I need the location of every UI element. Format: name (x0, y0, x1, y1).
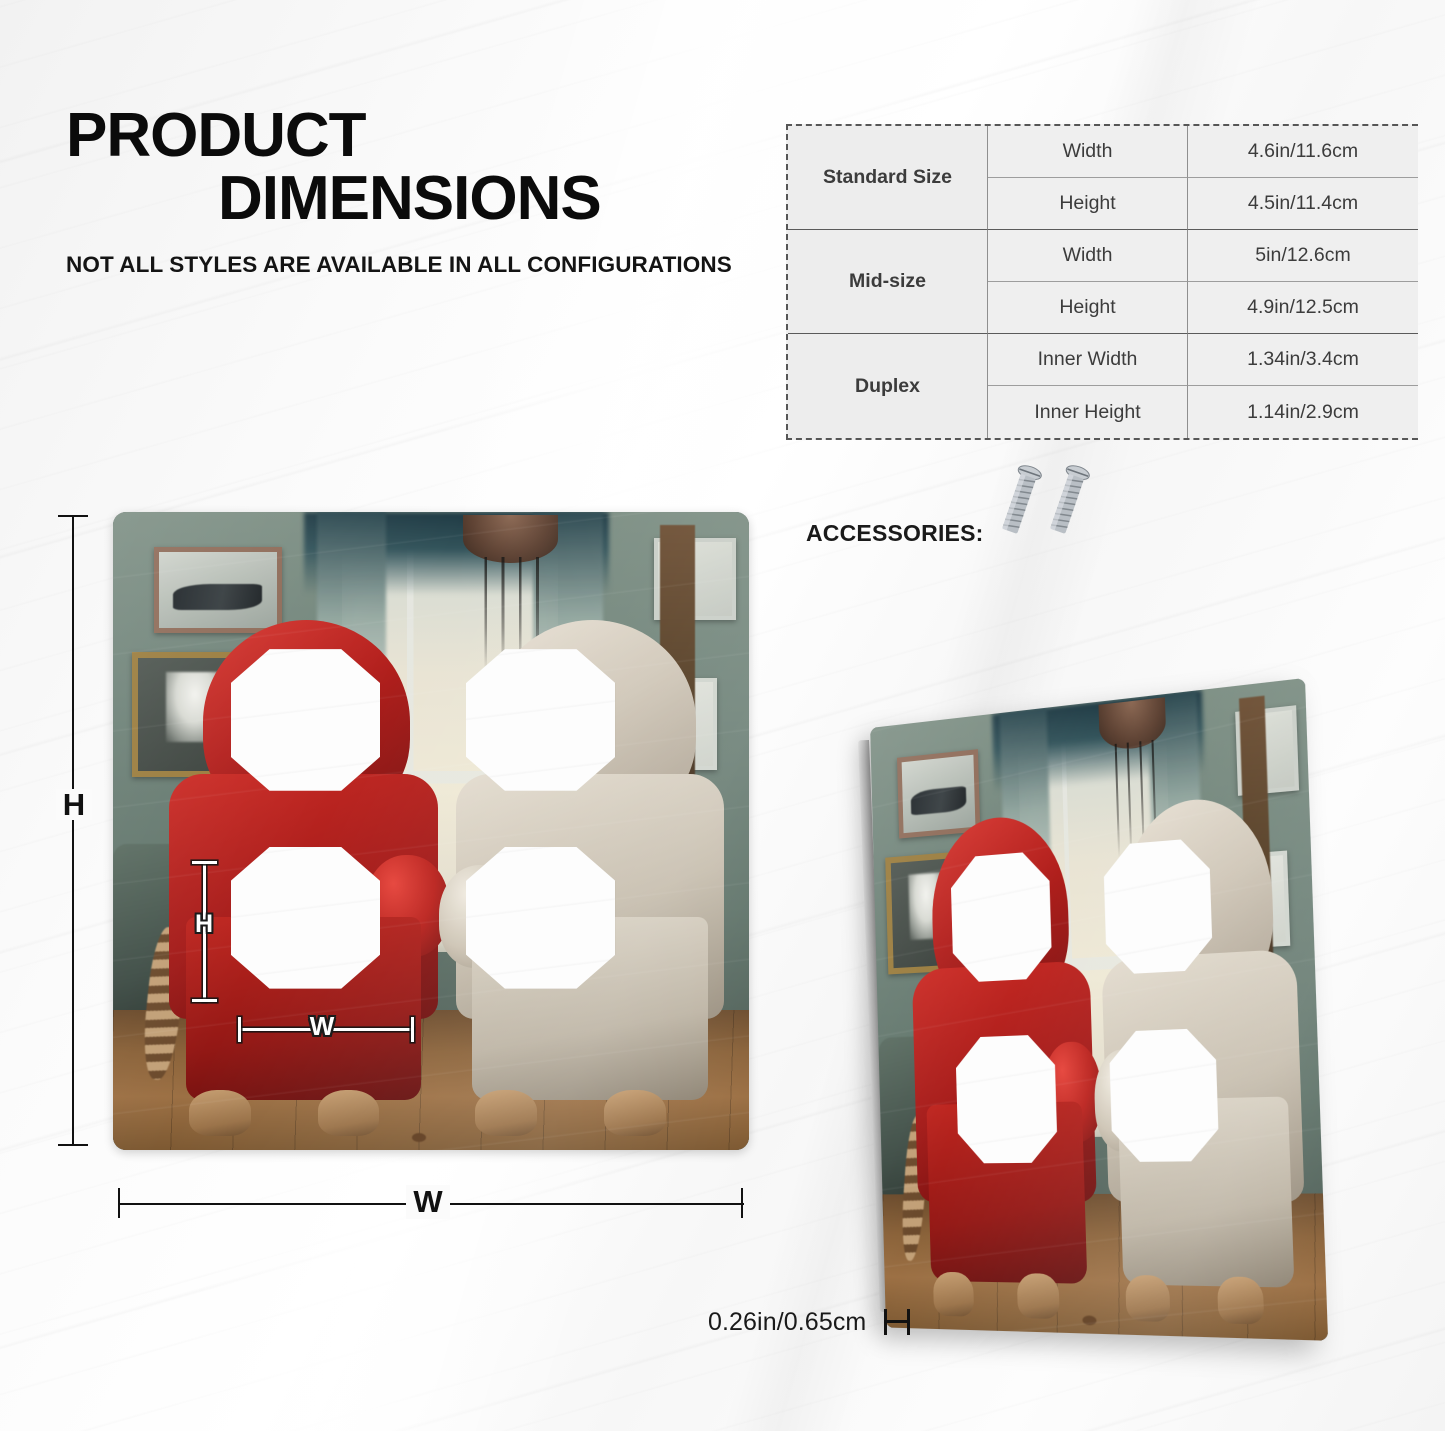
outer-height-cap-bottom (58, 1144, 88, 1146)
cutout-gloss (1109, 1028, 1220, 1162)
plate-artwork (113, 512, 749, 1150)
outer-width-label: W (406, 1185, 450, 1219)
table-value-mid-width: 5in/12.6cm (1188, 230, 1418, 282)
outlet-cutout-bottom-right (1109, 1028, 1220, 1162)
table-label-standard-height: Height (988, 178, 1188, 230)
cutout-gloss (231, 847, 380, 989)
cat-paw-left (475, 1090, 537, 1136)
inner-height-cap-top (192, 861, 217, 864)
outlet-cutout-top-right (1103, 837, 1213, 975)
table-value-standard-width: 4.6in/11.6cm (1188, 126, 1418, 178)
outlet-cutout-top-left (231, 649, 380, 791)
cutout-gloss (466, 649, 615, 791)
page-title-line2: DIMENSIONS (218, 167, 766, 231)
header: PRODUCT DIMENSIONS NOT ALL STYLES ARE AV… (66, 104, 766, 278)
page-title-line1: PRODUCT (66, 104, 766, 167)
floor-knot (1082, 1315, 1096, 1325)
outer-height-label: H (56, 789, 92, 820)
floor-knot (412, 1133, 426, 1142)
outlet-cutout-top-left (950, 850, 1052, 983)
table-label-duplex-inner-height: Inner Height (988, 386, 1188, 438)
table-label-duplex-inner-width: Inner Width (988, 334, 1188, 386)
outlet-cutout-bottom-left (955, 1034, 1058, 1163)
inner-height-cap-bottom (192, 999, 217, 1002)
cat-paw-right (1217, 1276, 1264, 1324)
cutout-gloss (950, 850, 1052, 983)
outer-height-cap-top (58, 515, 88, 517)
table-label-mid-height: Height (988, 282, 1188, 334)
inner-height-label: H (191, 912, 217, 937)
table-label-mid-width: Width (988, 230, 1188, 282)
caliper-tick-left (884, 1309, 887, 1335)
wall-plate-front (113, 512, 749, 1150)
outer-width-cap-left (118, 1188, 120, 1218)
outer-height-dimension-line (72, 516, 74, 1146)
screws-group (999, 488, 1119, 578)
cat-paw-right (1017, 1273, 1060, 1319)
cat-paw-left (189, 1090, 251, 1136)
accessories-section: ACCESSORIES: (806, 488, 1119, 578)
caliper-tick-right (907, 1309, 910, 1335)
table-group-standard-size: Standard Size (788, 126, 988, 230)
table-value-duplex-inner-width: 1.34in/3.4cm (1188, 334, 1418, 386)
accessories-label: ACCESSORIES: (806, 520, 983, 547)
page-subtitle: NOT ALL STYLES ARE AVAILABLE IN ALL CONF… (66, 252, 766, 278)
inner-width-cap-left (238, 1017, 241, 1042)
caliper-icon (880, 1305, 914, 1339)
table-value-standard-height: 4.5in/11.4cm (1188, 178, 1418, 230)
outlet-cutout-bottom-right (466, 847, 615, 989)
table-group-mid-size: Mid-size (788, 230, 988, 334)
outlet-cutout-top-right (466, 649, 615, 791)
table-value-mid-height: 4.9in/12.5cm (1188, 282, 1418, 334)
cutout-gloss (231, 649, 380, 791)
cutout-gloss (1103, 837, 1213, 975)
dimensions-table: Standard Size Width 4.6in/11.6cm Height … (786, 124, 1418, 440)
inner-width-cap-right (411, 1017, 414, 1042)
table-group-duplex: Duplex (788, 334, 988, 438)
cat-paw-left (933, 1271, 974, 1316)
outer-width-cap-right (741, 1188, 743, 1218)
outlet-cutout-bottom-left (231, 847, 380, 989)
cutout-gloss (955, 1034, 1058, 1163)
thickness-callout: 0.26in/0.65cm (708, 1305, 914, 1339)
angled-product-view (878, 726, 1320, 1326)
cat-paw-right (604, 1090, 666, 1136)
table-value-duplex-inner-height: 1.14in/2.9cm (1188, 386, 1418, 438)
thickness-value: 0.26in/0.65cm (708, 1308, 866, 1337)
table-label-standard-width: Width (988, 126, 1188, 178)
cat-paw-right (318, 1090, 380, 1136)
plate-artwork (870, 678, 1328, 1341)
cat-paw-left (1125, 1274, 1170, 1321)
wall-plate-angled (870, 678, 1328, 1341)
cutout-gloss (466, 847, 615, 989)
inner-width-label: W (303, 1012, 341, 1041)
flat-product-view (113, 512, 749, 1150)
